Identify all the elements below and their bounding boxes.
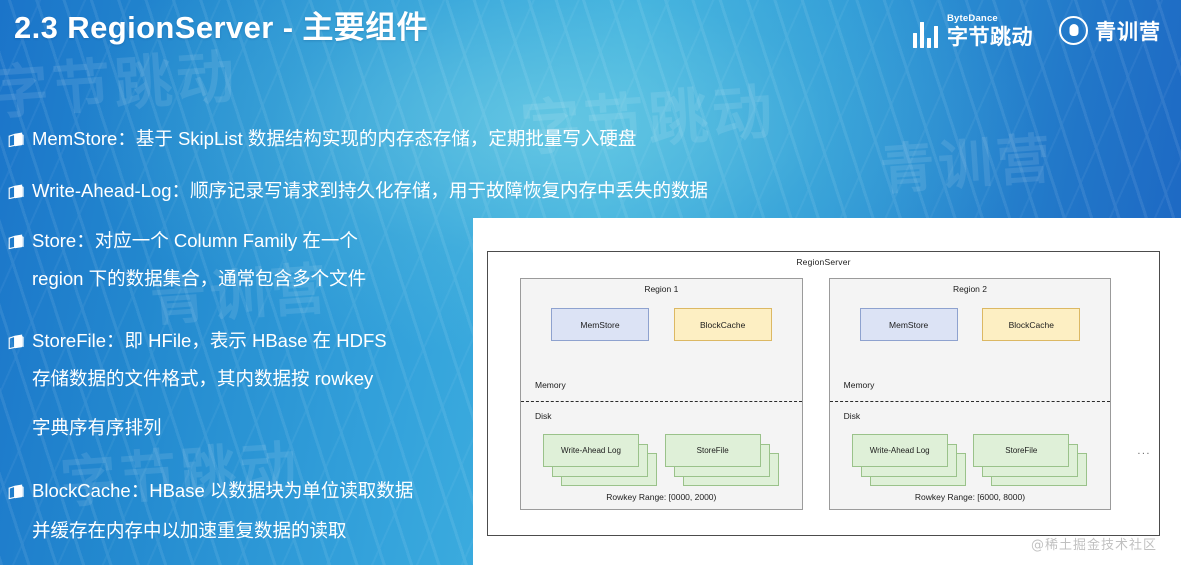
list-item-label: MemStore：基于 SkipList 数据结构实现的内存态存储，定期批量写入… [32,124,636,153]
bytedance-wordmark: ByteDance 字节跳动 [947,14,1033,48]
disk-zone: Disk Write-Ahead Log StoreFile Rowkey Ra… [521,401,802,509]
memstore-box: MemStore [551,308,649,341]
list-item: Store：对应一个 Column Family 在一个 [8,226,358,255]
brand-lockup: ByteDance 字节跳动 青训营 [913,14,1162,48]
list-item-continuation: region 下的数据集合，通常包含多个文件 [32,264,366,293]
list-item: Write-Ahead-Log：顺序记录写请求到持久化存储，用于故障恢复内存中丢… [8,176,708,205]
bytedance-en-label: ByteDance [947,14,1033,24]
memory-zone: MemStore BlockCache Memory [830,298,1111,401]
blockcache-box: BlockCache [982,308,1080,341]
blockcache-box: BlockCache [674,308,772,341]
youth-camp-label: 青训营 [1095,16,1161,46]
youth-camp-logo: 青训营 [1059,16,1161,46]
regionserver-label: RegionServer [488,257,1159,267]
book-bullet-icon [8,184,25,200]
list-item-continuation: 字典序有序排列 [32,413,162,442]
list-item: MemStore：基于 SkipList 数据结构实现的内存态存储，定期批量写入… [8,124,636,153]
storefile-stack: StoreFile [665,434,780,486]
disk-zone: Disk Write-Ahead Log StoreFile Rowkey Ra… [830,401,1111,509]
list-item: BlockCache：HBase 以数据块为单位读取数据 [8,476,413,505]
more-regions-ellipsis: ... [1137,445,1151,457]
disk-label: Disk [535,411,552,421]
book-bullet-icon [8,234,25,250]
list-item-label: BlockCache：HBase 以数据块为单位读取数据 [32,476,413,505]
region-box: Region 2 MemStore BlockCache Memory Disk… [829,278,1112,510]
memory-label: Memory [844,380,875,390]
wal-stack: Write-Ahead Log [852,434,967,486]
book-bullet-icon [8,484,25,500]
memory-zone: MemStore BlockCache Memory [521,298,802,401]
regionserver-diagram: RegionServer Region 1 MemStore BlockCach… [487,251,1160,536]
book-bullet-icon [8,132,25,148]
rowkey-range-label: Rowkey Range: [6000, 8000) [830,492,1111,502]
ghost-watermark: 青训营 [877,114,1056,205]
list-item: StoreFile：即 HFile，表示 HBase 在 HDFS [8,326,387,355]
rowkey-range-label: Rowkey Range: [0000, 2000) [521,492,802,502]
wal-stack: Write-Ahead Log [543,434,658,486]
memory-label: Memory [535,380,566,390]
memstore-box: MemStore [860,308,958,341]
list-item-label: Store：对应一个 Column Family 在一个 [32,226,358,255]
region-title: Region 2 [830,284,1111,294]
list-item-continuation: 并缓存在内存中以加速重复数据的读取 [32,516,347,545]
list-item-label: StoreFile：即 HFile，表示 HBase 在 HDFS [32,326,387,355]
bytedance-cn-label: 字节跳动 [947,27,1033,48]
region-container: Region 1 MemStore BlockCache Memory Disk… [488,278,1159,528]
storefile-box: StoreFile [665,434,761,467]
list-item-continuation: 存储数据的文件格式，其内数据按 rowkey [32,364,373,393]
slide-title: 2.3 RegionServer - 主要组件 [14,2,428,47]
list-item-label: Write-Ahead-Log：顺序记录写请求到持久化存储，用于故障恢复内存中丢… [32,176,708,205]
storefile-box: StoreFile [973,434,1069,467]
person-circle-icon [1059,16,1088,45]
book-bullet-icon [8,334,25,350]
source-watermark: @稀土掘金技术社区 [1031,534,1157,553]
storefile-stack: StoreFile [973,434,1088,486]
wal-box: Write-Ahead Log [852,434,948,467]
disk-label: Disk [844,411,861,421]
bar-chart-icon [913,22,939,48]
region-box: Region 1 MemStore BlockCache Memory Disk… [520,278,803,510]
slide-canvas: 字节跳动 字节跳动 青训营 字节跳动 青训营 2.3 RegionServer … [0,0,1181,565]
wal-box: Write-Ahead Log [543,434,639,467]
bytedance-logo: ByteDance 字节跳动 [913,14,1034,48]
region-title: Region 1 [521,284,802,294]
